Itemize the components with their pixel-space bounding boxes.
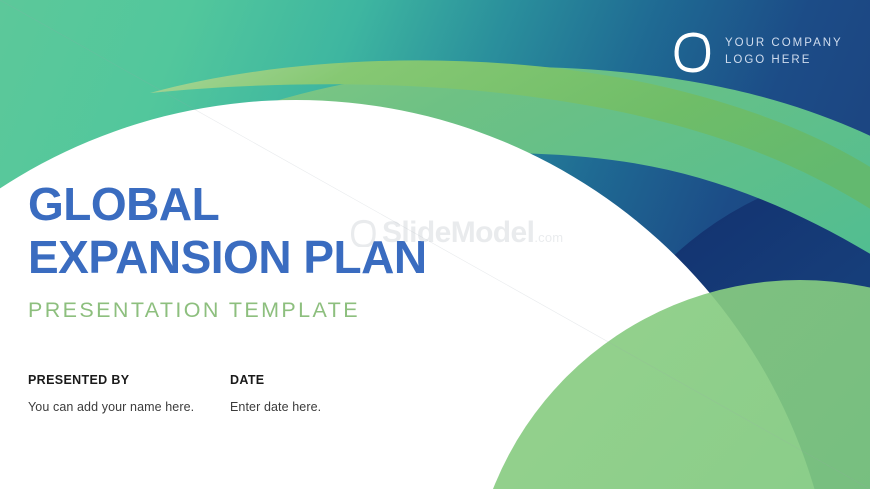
rounded-square-outline-logo-icon [673,31,711,73]
page-title-line-1: GLOBAL [28,178,548,231]
page-subtitle: PRESENTATION TEMPLATE [28,298,548,324]
slide-meta-row: PRESENTED BY You can add your name here.… [28,373,432,414]
meta-column-presented-by: PRESENTED BY You can add your name here. [28,373,230,414]
meta-column-date: DATE Enter date here. [230,373,432,414]
date-value[interactable]: Enter date here. [230,400,432,414]
company-logo-line-1: YOUR COMPANY [725,37,843,51]
company-logo-text: YOUR COMPANY LOGO HERE [725,37,843,67]
company-logo-block[interactable]: YOUR COMPANY LOGO HERE [673,31,843,73]
presented-by-label: PRESENTED BY [28,373,230,387]
page-title-line-2: EXPANSION PLAN [28,231,548,284]
date-label: DATE [230,373,432,387]
company-logo-line-2: LOGO HERE [725,54,843,68]
slide-title-block: GLOBAL EXPANSION PLAN PRESENTATION TEMPL… [28,178,548,324]
presentation-slide: YOUR COMPANY LOGO HERE GLOBAL EXPANSION … [0,0,870,489]
presented-by-value[interactable]: You can add your name here. [28,400,230,414]
